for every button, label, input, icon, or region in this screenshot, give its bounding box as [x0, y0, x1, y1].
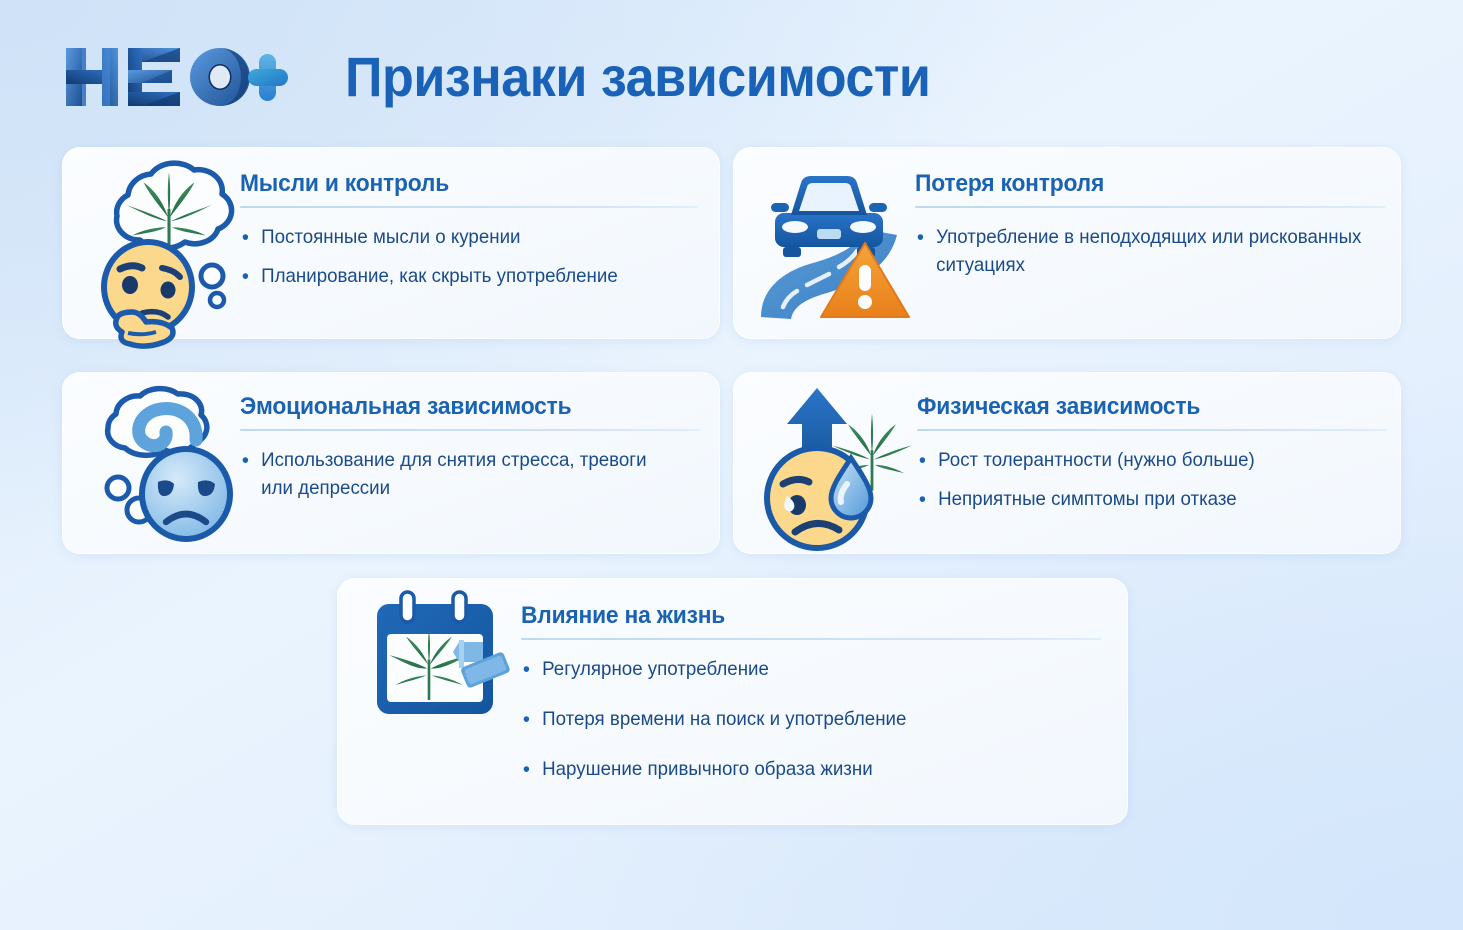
card-body: Мысли и контроль Постоянные мысли о куре…: [240, 171, 698, 291]
card-loss-of-control: Потеря контроля Употребление в неподходя…: [733, 147, 1401, 339]
card-thoughts-and-control: Мысли и контроль Постоянные мысли о куре…: [62, 147, 720, 339]
title-divider: [915, 206, 1385, 208]
infographic-page: Признаки зависимости: [0, 0, 1463, 930]
bullet-list: Постоянные мысли о курении Планирование,…: [240, 224, 698, 290]
list-item: Нарушение привычного образа жизни: [521, 756, 1078, 784]
card-title: Потеря контроля: [915, 171, 1362, 197]
bullet-list: Употребление в неподходящих или рискован…: [915, 224, 1385, 279]
title-divider: [521, 638, 1101, 640]
bullet-list: Использование для снятия стресса, тревог…: [240, 447, 700, 502]
list-item: Рост толерантности (нужно больше): [917, 447, 1368, 475]
thinking-face-with-cannabis-thought-bubble-icon: [84, 161, 252, 339]
car-road-warning-triangle-icon: [747, 157, 919, 329]
page-title: Признаки зависимости: [345, 44, 930, 109]
list-item: Планирование, как скрыть употребление: [240, 263, 680, 291]
list-item: Использование для снятия стресса, тревог…: [240, 447, 682, 502]
card-title: Физическая зависимость: [917, 394, 1364, 420]
title-divider: [240, 206, 698, 208]
title-divider: [917, 429, 1387, 431]
list-item: Употребление в неподходящих или рискован…: [915, 224, 1366, 279]
worried-face-up-arrow-cannabis-icon: [755, 380, 925, 552]
card-title: Эмоциональная зависимость: [240, 394, 677, 420]
list-item: Постоянные мысли о курении: [240, 224, 680, 252]
sad-blue-face-with-thought-bubble-icon: [86, 384, 252, 546]
card-physical-dependency: Физическая зависимость Рост толерантност…: [733, 372, 1401, 554]
card-impact-on-life: Влияние на жизнь Регулярное употребление…: [337, 578, 1128, 825]
neo-plus-logo: [62, 44, 292, 110]
calendar-with-cannabis-leaf-icon: [367, 588, 517, 728]
card-body: Потеря контроля Употребление в неподходя…: [915, 171, 1385, 280]
bullet-list: Рост толерантности (нужно больше) Неприя…: [917, 447, 1387, 513]
page-header: Признаки зависимости: [0, 0, 1463, 140]
list-item: Потеря времени на поиск и употребление: [521, 706, 1078, 734]
card-title: Влияние на жизнь: [521, 603, 1072, 629]
bullet-list: Регулярное употребление Потеря времени н…: [521, 656, 1101, 783]
card-emotional-dependency: Эмоциональная зависимость Использование …: [62, 372, 720, 554]
list-item: Регулярное употребление: [521, 656, 1078, 684]
card-body: Физическая зависимость Рост толерантност…: [917, 394, 1387, 514]
list-item: Неприятные симптомы при отказе: [917, 486, 1368, 514]
card-body: Влияние на жизнь Регулярное употребление…: [521, 603, 1101, 783]
title-divider: [240, 429, 700, 431]
card-title: Мысли и контроль: [240, 171, 675, 197]
card-body: Эмоциональная зависимость Использование …: [240, 394, 700, 503]
